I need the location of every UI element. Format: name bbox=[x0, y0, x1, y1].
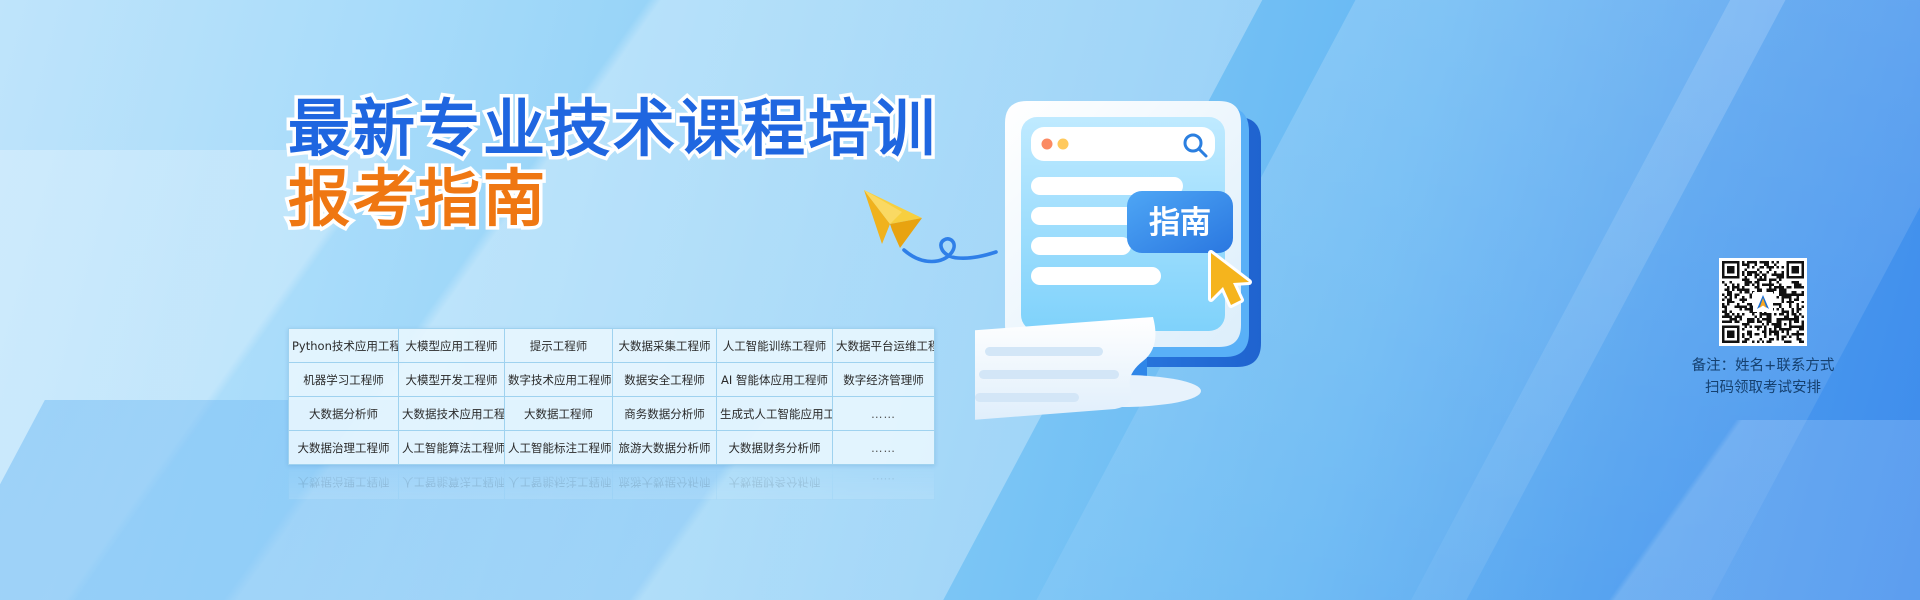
qr-note-line2: 扫码领取考试安排 bbox=[1648, 378, 1878, 400]
bg-streak-6 bbox=[1295, 420, 1920, 600]
table-row: 大数据分析师大数据技术应用工程师大数据工程师商务数据分析师生成式人工智能应用工程… bbox=[289, 397, 935, 431]
table-cell: 大数据分析师 bbox=[289, 397, 399, 431]
table-cell: 大模型应用工程师 bbox=[399, 329, 505, 363]
table-cell: 大数据治理工程师 bbox=[289, 466, 399, 500]
table-cell: 生成式人工智能应用工程师 bbox=[717, 397, 833, 431]
table-cell: 数字技术应用工程师 bbox=[505, 363, 613, 397]
table-cell: 旅游大数据分析师 bbox=[613, 466, 717, 500]
qr-code[interactable] bbox=[1719, 258, 1807, 346]
table-row: 大数据治理工程师人工智能算法工程师人工智能标注工程师旅游大数据分析师大数据财务分… bbox=[289, 431, 935, 465]
table-cell: 大模型开发工程师 bbox=[399, 363, 505, 397]
table-cell: 商务数据分析师 bbox=[613, 397, 717, 431]
table-cell: 人工智能算法工程师 bbox=[399, 431, 505, 465]
table-row: 大数据治理工程师人工智能算法工程师人工智能标注工程师旅游大数据分析师大数据财务分… bbox=[289, 466, 935, 500]
table-cell: 大数据技术应用工程师 bbox=[399, 397, 505, 431]
table-cell: …… bbox=[833, 431, 935, 465]
banner-title: 最新专业技术课程培训 bbox=[288, 96, 938, 162]
dot-yellow-icon bbox=[1058, 139, 1069, 150]
table-cell: 人工智能训练工程师 bbox=[717, 329, 833, 363]
table-cell: 数字经济管理师 bbox=[833, 363, 935, 397]
table-cell: AI 智能体应用工程师 bbox=[717, 363, 833, 397]
content-row bbox=[1031, 237, 1131, 255]
table-cell: 大数据财务分析师 bbox=[717, 431, 833, 465]
table-cell: 机器学习工程师 bbox=[289, 363, 399, 397]
table-cell: 旅游大数据分析师 bbox=[613, 431, 717, 465]
table-cell: 数据安全工程师 bbox=[613, 363, 717, 397]
table-row: 机器学习工程师大模型开发工程师数字技术应用工程师数据安全工程师AI 智能体应用工… bbox=[289, 363, 935, 397]
table-cell: 人工智能算法工程师 bbox=[399, 466, 505, 500]
qr-center-logo-icon bbox=[1753, 292, 1773, 312]
table-cell: Python技术应用工程师 bbox=[289, 329, 399, 363]
table-cell: 提示工程师 bbox=[505, 329, 613, 363]
qr-block: 备注：姓名+联系方式 扫码领取考试安排 bbox=[1648, 258, 1878, 400]
device-illustration: 指南 bbox=[975, 85, 1315, 425]
table-reflection: 大数据治理工程师人工智能算法工程师人工智能标注工程师旅游大数据分析师大数据财务分… bbox=[288, 465, 934, 501]
table-cell: 大数据治理工程师 bbox=[289, 431, 399, 465]
dot-red-icon bbox=[1042, 139, 1053, 150]
table-cell: 大数据采集工程师 bbox=[613, 329, 717, 363]
table-cell: …… bbox=[833, 397, 935, 431]
qr-note-line1: 备注：姓名+联系方式 bbox=[1648, 356, 1878, 378]
headline-group: 最新专业技术课程培训 报考指南 bbox=[288, 96, 938, 231]
table-row: Python技术应用工程师大模型应用工程师提示工程师大数据采集工程师人工智能训练… bbox=[289, 329, 935, 363]
guide-badge: 指南 bbox=[1127, 191, 1233, 253]
plane-trail-icon bbox=[904, 239, 996, 262]
certification-table-wrap: Python技术应用工程师大模型应用工程师提示工程师大数据采集工程师人工智能训练… bbox=[288, 328, 934, 501]
promo-banner: 最新专业技术课程培训 报考指南 bbox=[0, 0, 1920, 600]
banner-subtitle: 报考指南 bbox=[288, 166, 938, 232]
table-cell: …… bbox=[833, 466, 935, 500]
table-cell: 大数据财务分析师 bbox=[717, 466, 833, 500]
certification-table: Python技术应用工程师大模型应用工程师提示工程师大数据采集工程师人工智能训练… bbox=[288, 328, 935, 465]
table-cell: 大数据平台运维工程师 bbox=[833, 329, 935, 363]
guide-badge-label: 指南 bbox=[1149, 205, 1211, 241]
table-cell: 人工智能标注工程师 bbox=[505, 466, 613, 500]
content-row bbox=[1031, 267, 1161, 285]
table-reflection-row: 大数据治理工程师人工智能算法工程师人工智能标注工程师旅游大数据分析师大数据财务分… bbox=[288, 465, 935, 500]
table-cell: 人工智能标注工程师 bbox=[505, 431, 613, 465]
table-cell: 大数据工程师 bbox=[505, 397, 613, 431]
